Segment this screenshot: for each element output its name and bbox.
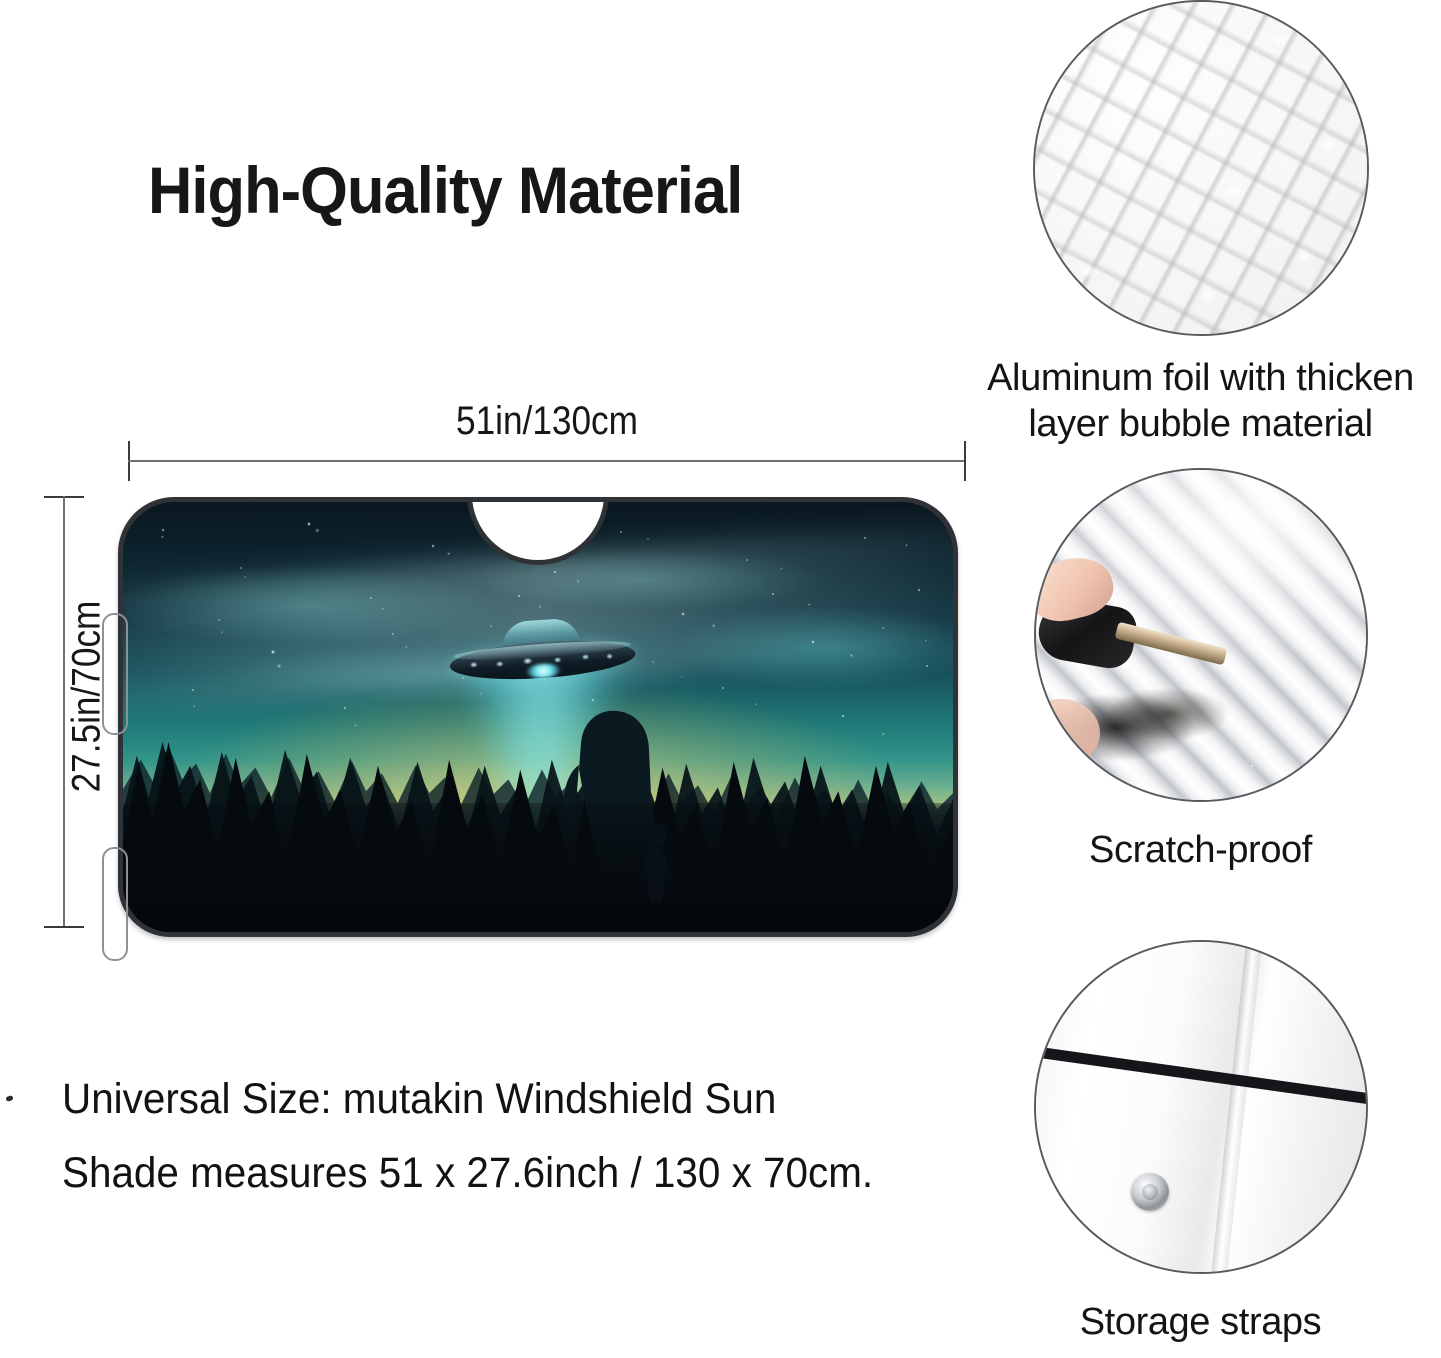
size-description: Universal Size: mutakin Windshield Sun S… (62, 1063, 993, 1211)
dimension-bar (128, 460, 966, 462)
caption-line-1: Storage straps (960, 1300, 1441, 1346)
size-description-line-2: Shade measures 51 x 27.6inch / 130 x 70c… (62, 1137, 993, 1211)
feature-caption-scratch-proof: Scratch-proof (960, 828, 1441, 874)
feature-caption-bubble-foil: Aluminum foil with thicken layer bubble … (960, 356, 1441, 447)
feature-caption-storage-straps: Storage straps (960, 1300, 1441, 1346)
foreground-ground (123, 803, 953, 932)
feature-storage-straps: Storage straps (960, 940, 1441, 1346)
size-description-line-1: Universal Size: mutakin Windshield Sun (62, 1063, 993, 1137)
caption-line-1: Scratch-proof (960, 828, 1441, 874)
feature-image-scratch-proof (1034, 468, 1368, 802)
height-dimension-line: 27.5in/70cm (63, 496, 64, 928)
caption-line-1: Aluminum foil with thicken (960, 356, 1441, 402)
sunshade-artwork (123, 502, 953, 932)
elastic-strap-loop-top (102, 613, 128, 735)
sunshade-panel (118, 497, 958, 937)
width-dimension-line (128, 460, 966, 461)
feature-image-bubble-foil (1033, 0, 1369, 336)
feature-bubble-foil: Aluminum foil with thicken layer bubble … (960, 0, 1441, 447)
edge-speck (5, 1095, 13, 1102)
page-title: High-Quality Material (148, 152, 742, 228)
caption-line-2: layer bubble material (960, 402, 1441, 448)
product-image (100, 495, 975, 945)
alien-silhouette (638, 822, 674, 902)
feature-scratch-proof: Scratch-proof (960, 468, 1441, 874)
metal-snap-button (1131, 1173, 1169, 1211)
elastic-strap-loop-bottom (102, 847, 128, 961)
bubble-puffs (1033, 0, 1369, 336)
rolled-sunshade (1036, 942, 1366, 1272)
bubble-foil-texture (1033, 0, 1369, 336)
product-infographic: High-Quality Material 51in/130cm 27.5in/… (0, 0, 1441, 1358)
feature-image-storage-straps (1034, 940, 1368, 1274)
dimension-cap-bottom (44, 926, 84, 928)
width-dimension-label: 51in/130cm (178, 399, 915, 444)
